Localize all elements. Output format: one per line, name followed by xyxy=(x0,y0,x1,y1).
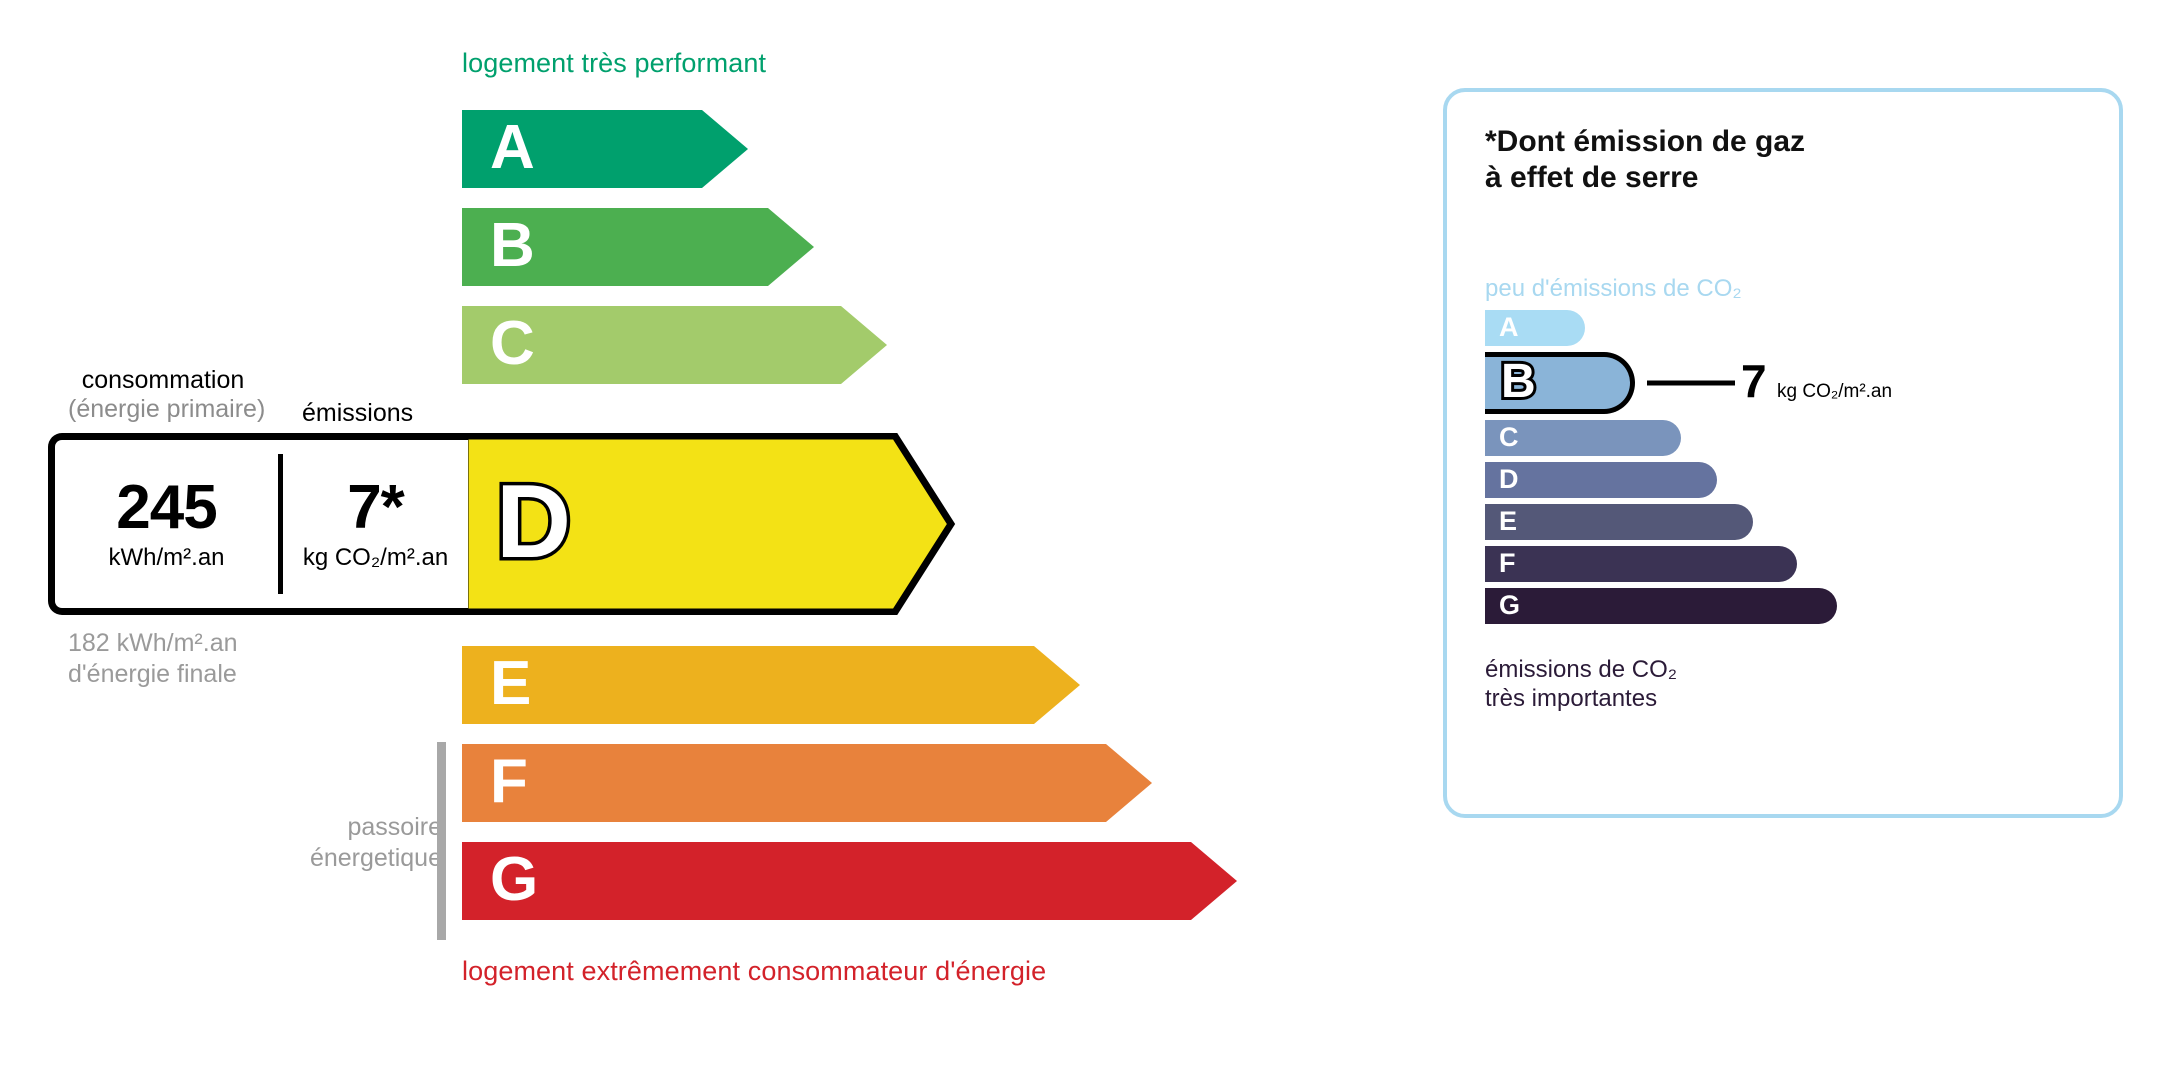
co2-bar-a: A xyxy=(1485,310,2085,346)
energy-bar-d-selected: D xyxy=(462,433,957,615)
energy-bar-f-letter: F xyxy=(490,751,528,813)
co2-bar-f: F xyxy=(1485,546,2085,582)
energy-top-caption: logement très performant xyxy=(462,48,766,79)
energy-bar-g-shape xyxy=(462,842,1237,920)
energy-bar-f: F xyxy=(462,744,1152,822)
emission-unit: kg CO₂/m².an xyxy=(289,545,462,571)
co2-bottom-caption: émissions de CO₂ très importantes xyxy=(1485,655,1677,714)
energy-bar-g-letter: G xyxy=(490,849,538,911)
co2-value-connector-line xyxy=(1647,381,1735,386)
co2-bottom-caption-line2: très importantes xyxy=(1485,684,1677,713)
co2-bar-g-letter: G xyxy=(1499,592,1520,619)
emission-value: 7* xyxy=(289,477,462,539)
co2-bar-d-letter: D xyxy=(1499,466,1519,493)
co2-bar-f-letter: F xyxy=(1499,550,1516,577)
energy-bar-g: G xyxy=(462,842,1237,920)
consumption-value: 245 xyxy=(61,477,272,539)
co2-bar-b-selected: B 7 kg CO₂/m².an xyxy=(1485,352,2085,414)
emissions-label: émissions xyxy=(302,399,413,428)
energy-bar-e-shape xyxy=(462,646,1080,724)
co2-bottom-caption-line1: émissions de CO₂ xyxy=(1485,655,1677,684)
consumption-cell: 245 kWh/m².an xyxy=(55,477,278,571)
co2-bar-c-letter: C xyxy=(1499,424,1519,451)
energy-bar-e: E xyxy=(462,646,1080,724)
energy-bottom-caption: logement extrêmement consommateur d'éner… xyxy=(462,956,1046,987)
co2-bar-c: C xyxy=(1485,420,2085,456)
co2-bar-b-letter: B xyxy=(1501,358,1536,406)
passoire-energetique-label: passoire énergetique xyxy=(282,812,442,873)
consommation-label-sub: (énergie primaire) xyxy=(68,395,258,424)
co2-bar-f-shape xyxy=(1485,546,1797,582)
co2-title-line1: *Dont émission de gaz xyxy=(1485,124,1805,160)
energy-bar-a-letter: A xyxy=(490,117,535,179)
energy-bar-e-letter: E xyxy=(490,653,531,715)
consommation-label: consommation (énergie primaire) xyxy=(68,366,258,424)
energy-bar-f-shape xyxy=(462,744,1152,822)
co2-bar-g-shape xyxy=(1485,588,1837,624)
energy-bar-d-letter: D xyxy=(496,470,571,574)
co2-value: 7 xyxy=(1741,358,1767,404)
energy-bar-a: A xyxy=(462,110,748,188)
passoire-bracket-bar xyxy=(437,742,446,940)
final-energy-line1: 182 kWh/m².an xyxy=(68,628,238,659)
emission-cell: 7* kg CO₂/m².an xyxy=(283,477,468,571)
energy-performance-chart: logement très performant A B C D E xyxy=(0,0,1420,1079)
co2-bar-g: G xyxy=(1485,588,2085,624)
co2-title-line2: à effet de serre xyxy=(1485,160,1805,196)
co2-top-caption: peu d'émissions de CO₂ xyxy=(1485,275,1742,303)
energy-bar-b-letter: B xyxy=(490,215,535,277)
co2-emissions-panel: *Dont émission de gaz à effet de serre p… xyxy=(1443,88,2123,818)
co2-bar-e-shape xyxy=(1485,504,1753,540)
co2-bar-d: D xyxy=(1485,462,2085,498)
co2-bar-d-shape xyxy=(1485,462,1717,498)
co2-bar-e-letter: E xyxy=(1499,508,1517,535)
final-energy-line2: d'énergie finale xyxy=(68,659,238,690)
passoire-line1: passoire xyxy=(282,812,442,843)
consommation-label-main: consommation xyxy=(68,366,258,395)
energy-bar-b: B xyxy=(462,208,814,286)
energy-value-box: 245 kWh/m².an 7* kg CO₂/m².an xyxy=(48,433,468,615)
co2-bar-list: A B 7 kg CO₂/m².an C D E F G xyxy=(1485,310,2085,630)
co2-panel-title: *Dont émission de gaz à effet de serre xyxy=(1485,124,1805,196)
final-energy-note: 182 kWh/m².an d'énergie finale xyxy=(68,628,238,689)
consumption-unit: kWh/m².an xyxy=(61,545,272,571)
energy-bar-c: C xyxy=(462,306,887,384)
co2-bar-a-letter: A xyxy=(1499,314,1519,341)
co2-value-unit: kg CO₂/m².an xyxy=(1777,381,1892,403)
energy-bar-c-letter: C xyxy=(490,313,535,375)
co2-bar-e: E xyxy=(1485,504,2085,540)
passoire-line2: énergetique xyxy=(282,843,442,874)
